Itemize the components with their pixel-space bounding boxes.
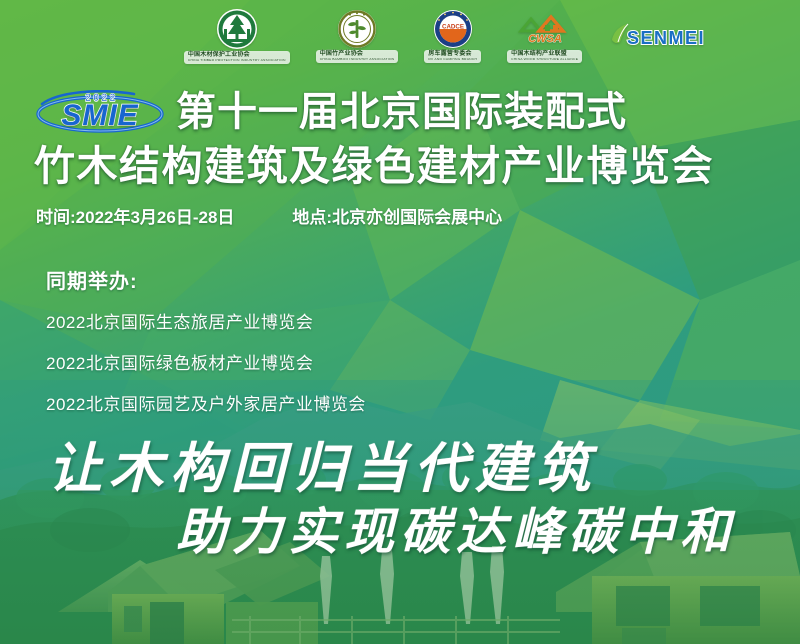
logo-caption-text: 中国竹产业协会 (320, 51, 363, 57)
smie-wordmark: SMIE (61, 99, 138, 133)
concurrent-events: 同期举办: 2022北京国际生态旅居产业博览会 2022北京国际绿色板材产业博览… (46, 265, 366, 431)
logo-caption-sub: RV AND CAMPING BRANCH (428, 58, 477, 62)
logo-bamboo-association[interactable]: 中国竹产业协会 CHINA BAMBOO INDUSTRY ASSOCIATIO… (316, 9, 399, 63)
slogan-line2: 助力实现碳达峰碳中和 (176, 492, 736, 564)
logo-caption-text: 中国木结构产业联盟 (511, 51, 567, 57)
concurrent-event-item: 2022北京国际绿色板材产业博览会 (46, 349, 366, 374)
cadce-roundel-icon: CADCE (433, 9, 473, 49)
logo-cwsa-wood-structure[interactable]: CWSA 中国木结构产业联盟 CHINA WOOD STRUCTURE ALLI… (507, 9, 582, 63)
event-venue: 地点:北京亦创国际会展中心 (292, 203, 502, 228)
title-row-primary: 2022 SMIE 第十一届北京国际装配式 (34, 88, 782, 136)
concurrent-events-heading: 同期举办: (46, 265, 366, 294)
exhibition-poster: 中国木材保护工业协会 CHINA TIMBER PROTECTION INDUS… (0, 0, 800, 644)
concurrent-event-item: 2022北京国际园艺及户外家居产业博览会 (46, 390, 366, 415)
logo-caption-sub: CHINA BAMBOO INDUSTRY ASSOCIATION (320, 58, 395, 62)
svg-text:SENMEI: SENMEI (627, 28, 705, 48)
smie-logo[interactable]: 2022 SMIE (34, 90, 166, 134)
leaf-wordmark-icon: SENMEI (608, 20, 712, 52)
svg-text:CADCE: CADCE (442, 23, 464, 30)
event-meta: 时间:2022年3月26日-28日 地点:北京亦创国际会展中心 (36, 203, 502, 228)
logo-senmei[interactable]: SENMEI (608, 20, 712, 52)
logo-caption-text: 房车露营专委会 (428, 51, 471, 57)
svg-text:CWSA: CWSA (528, 33, 562, 45)
title-block: 2022 SMIE 第十一届北京国际装配式 竹木结构建筑及绿色建材产业博览会 (34, 88, 782, 187)
logo-cadce-rv-camping[interactable]: CADCE 房车露营专委会 RV AND CAMPING BRANCH (424, 9, 481, 63)
logo-caption-sub: CHINA WOOD STRUCTURE ALLIANCE (511, 58, 578, 62)
page-title-line1: 第十一届北京国际装配式 (176, 92, 627, 132)
logo-china-timber-protection[interactable]: 中国木材保护工业协会 CHINA TIMBER PROTECTION INDUS… (184, 8, 290, 64)
logo-caption-sub: CHINA TIMBER PROTECTION INDUSTRY ASSOCIA… (188, 59, 286, 63)
house-roof-icon: CWSA (515, 9, 575, 49)
logo-caption-text: 中国木材保护工业协会 (188, 52, 250, 58)
pine-tree-emblem-icon (216, 8, 258, 50)
bamboo-seal-icon (337, 9, 377, 49)
page-title-line2: 竹木结构建筑及绿色建材产业博览会 (34, 146, 782, 187)
event-date: 时间:2022年3月26日-28日 (36, 203, 234, 228)
concurrent-event-item: 2022北京国际生态旅居产业博览会 (46, 308, 366, 333)
sponsor-logo-strip: 中国木材保护工业协会 CHINA TIMBER PROTECTION INDUS… (0, 0, 800, 72)
